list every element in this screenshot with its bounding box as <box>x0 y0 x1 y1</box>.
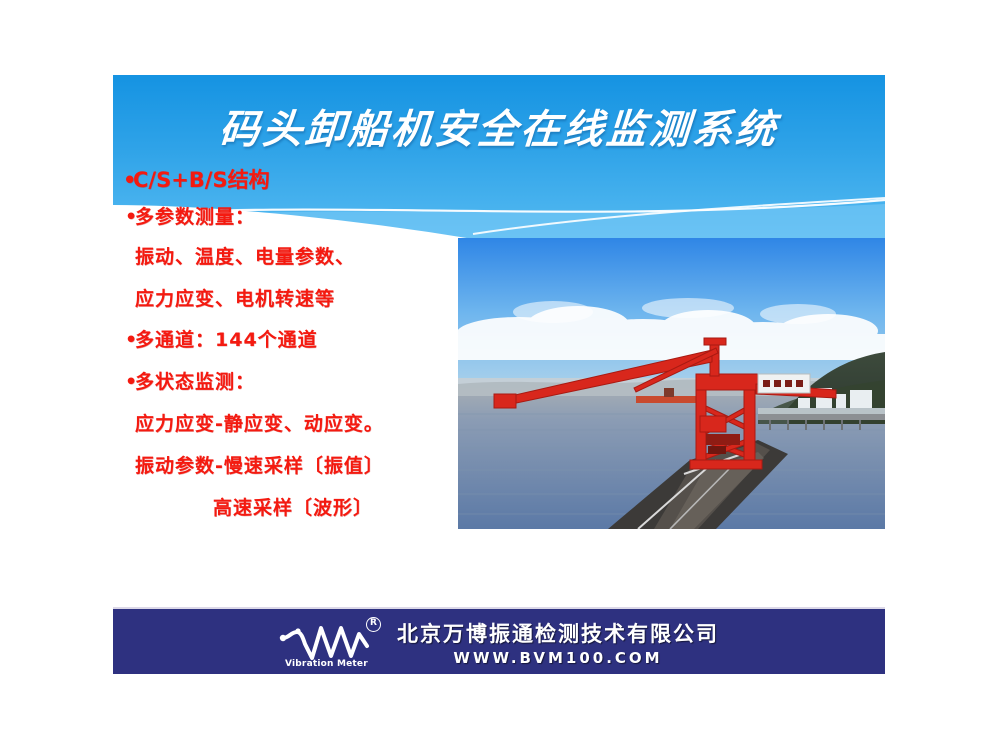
footer-bar: R Vibration Meter 北京万博振通检测技术有限公司 WWW.BVM… <box>113 607 885 674</box>
logo-subtitle: Vibration Meter <box>285 659 368 669</box>
page-title: 码头卸船机安全在线监测系统 <box>111 97 887 155</box>
list-item-label: 应力应变-静应变、动应变。 <box>135 413 384 435</box>
list-item: 高速采样〔波形〕 <box>213 499 373 518</box>
list-item: •C/S+B/S结构 <box>123 170 270 191</box>
list-item: •多状态监测： <box>125 373 255 392</box>
list-item: 应力应变-静应变、动应变。 <box>125 415 384 434</box>
list-item: 应力应变、电机转速等 <box>125 290 335 309</box>
list-item-label: 应力应变、电机转速等 <box>135 288 335 310</box>
bullet-marker: • <box>123 170 133 191</box>
list-item-label: 振动参数-慢速采样〔振值〕 <box>135 455 384 477</box>
list-item-label: C/S+B/S结构 <box>133 168 270 192</box>
company-website: WWW.BVM100.COM <box>453 649 662 667</box>
vibration-meter-logo: R Vibration Meter <box>279 616 383 668</box>
company-name: 北京万博振通检测技术有限公司 <box>397 618 719 648</box>
list-item-label: 多参数测量： <box>135 206 255 228</box>
list-item: •多参数测量： <box>125 208 255 227</box>
list-item-label: 高速采样〔波形〕 <box>213 497 373 519</box>
list-item: •多通道：144个通道 <box>125 331 318 350</box>
bullet-marker: • <box>125 373 135 392</box>
list-item-label: 多状态监测： <box>135 371 255 393</box>
list-item: 振动参数-慢速采样〔振值〕 <box>125 457 384 476</box>
list-item-label: 多通道：144个通道 <box>135 329 318 351</box>
slide-canvas: 码头卸船机安全在线监测系统 •C/S+B/S结构 •多参数测量： 振动、温度、电… <box>0 0 1000 750</box>
list-item-label: 振动、温度、电量参数、 <box>135 246 355 268</box>
bullet-marker: • <box>125 208 135 227</box>
crane-photo <box>458 238 885 529</box>
bullet-marker: • <box>125 331 135 350</box>
list-item: 振动、温度、电量参数、 <box>125 248 355 267</box>
registered-trademark-icon: R <box>366 617 381 632</box>
